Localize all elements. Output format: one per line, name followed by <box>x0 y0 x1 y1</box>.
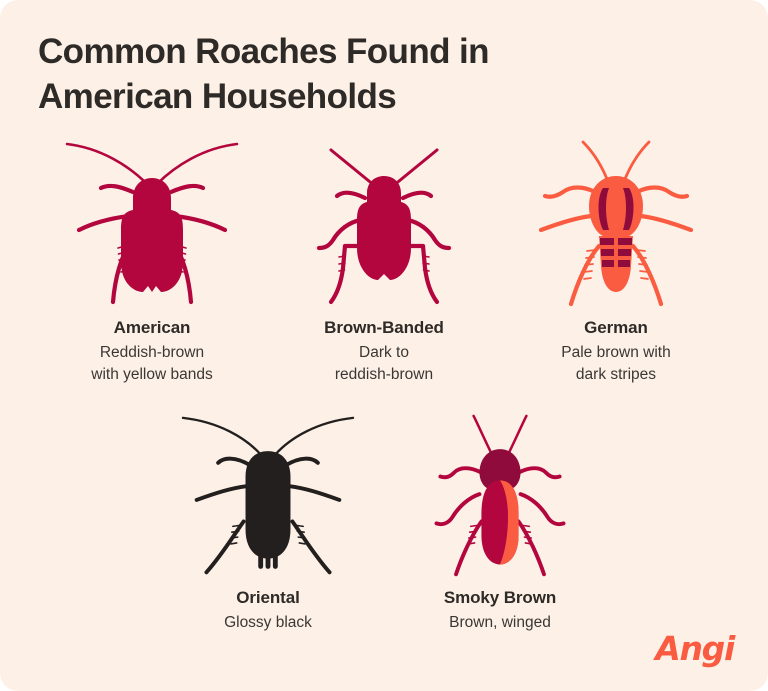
roach-body <box>357 176 411 280</box>
american-roach-icon <box>57 138 247 314</box>
abdomen-bands <box>600 238 632 267</box>
species-name: Smoky Brown <box>444 588 556 608</box>
species-name: Brown-Banded <box>324 318 444 338</box>
brown-banded-roach-icon <box>289 138 479 314</box>
species-card-smoky-brown: Smoky Brown Brown, winged <box>384 412 616 634</box>
german-roach-icon <box>521 138 711 314</box>
cerci <box>258 555 278 569</box>
species-card-german: German Pale brown with dark stripes <box>500 138 732 386</box>
infographic-card: Common Roaches Found in American Househo… <box>0 0 768 691</box>
species-description: Pale brown with dark stripes <box>561 342 670 386</box>
species-row-1: American Reddish-brown with yellow bands <box>0 138 768 386</box>
species-description: Dark to reddish-brown <box>335 342 433 386</box>
angi-logo[interactable]: Angi <box>655 632 734 665</box>
oriental-roach-icon <box>173 412 363 584</box>
page-title: Common Roaches Found in American Househo… <box>38 29 638 119</box>
species-description: Brown, winged <box>449 612 551 634</box>
species-card-american: American Reddish-brown with yellow bands <box>36 138 268 386</box>
roach-body <box>246 451 291 559</box>
species-name: German <box>584 318 648 338</box>
roach-body <box>121 178 183 292</box>
species-description: Reddish-brown with yellow bands <box>91 342 212 386</box>
species-description: Glossy black <box>224 612 312 634</box>
species-row-2: Oriental Glossy black <box>0 412 768 634</box>
species-card-oriental: Oriental Glossy black <box>152 412 384 634</box>
smoky-brown-roach-icon <box>405 412 595 584</box>
species-name: Oriental <box>236 588 299 608</box>
species-card-brown-banded: Brown-Banded Dark to reddish-brown <box>268 138 500 386</box>
species-name: American <box>114 318 191 338</box>
